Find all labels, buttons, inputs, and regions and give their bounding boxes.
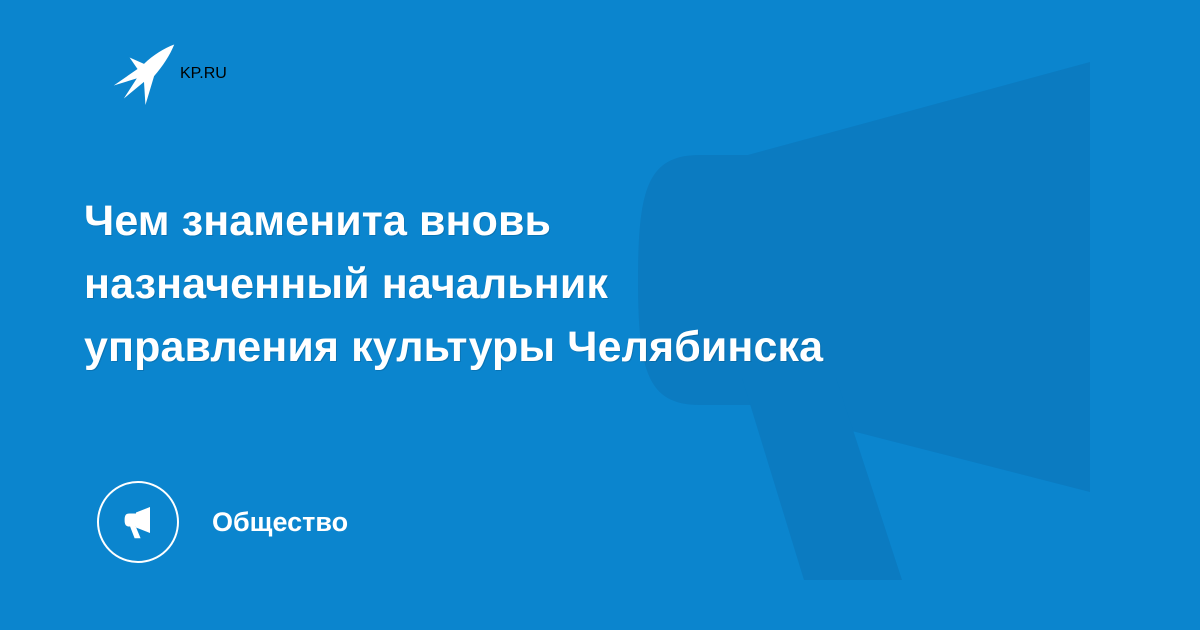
category-icon-circle [97, 481, 179, 563]
headline-line-3: управления культуры Челябинска [84, 316, 1114, 379]
category-badge[interactable]: Общество [97, 481, 348, 563]
brand-logo[interactable]: KP.RU [108, 38, 227, 110]
brand-name: KP.RU [180, 65, 227, 83]
headline-line-2: назначенный начальник [84, 253, 1114, 316]
swallow-bird-logo-icon [108, 38, 180, 110]
article-share-card: KP.RU Чем знаменита вновь назначенный на… [0, 0, 1200, 630]
headline: Чем знаменита вновь назначенный начальни… [84, 190, 1114, 379]
megaphone-icon [116, 500, 160, 544]
headline-line-1: Чем знаменита вновь [84, 190, 1114, 253]
category-label: Общество [212, 509, 348, 536]
